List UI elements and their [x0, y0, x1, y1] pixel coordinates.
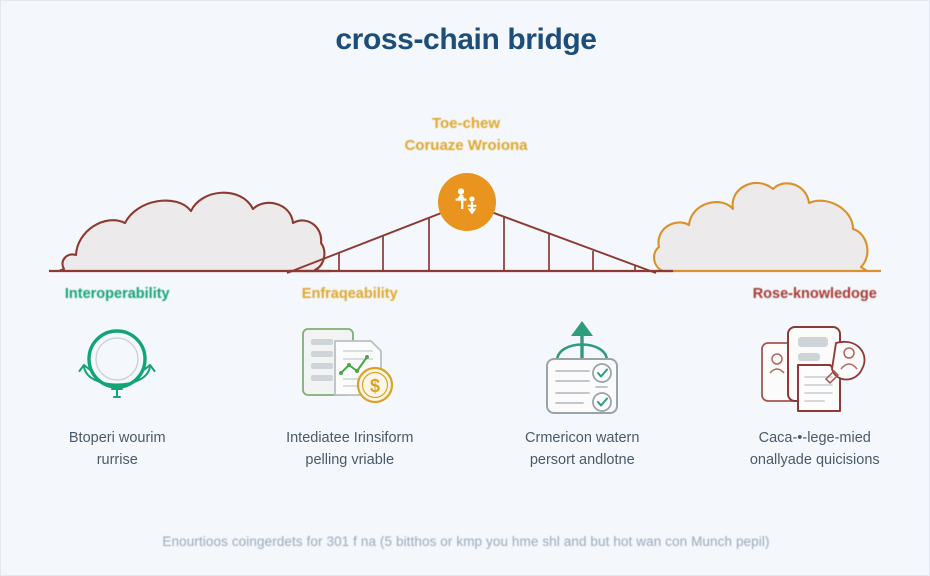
feature-caption-4-line1: Caca-•-lege-mied [759, 430, 871, 446]
sync-circle-icon [58, 321, 176, 413]
upload-document-check-icon [523, 317, 641, 417]
feature-column-rose-knowledoge: Rose-knowledoge [699, 283, 930, 471]
feature-caption-3-line2: persort andlotne [530, 452, 635, 468]
feature-caption-2-line2: pelling vriable [305, 452, 394, 468]
right-landmass-icon [654, 183, 881, 271]
feature-icon-2-wrap: $ [291, 321, 409, 413]
footer-note: Enourtioos coingerdets for 301 f na (5 b… [1, 534, 930, 549]
feature-column-three: Crmericon watern persort andlotne [466, 283, 699, 471]
page-title: cross-chain bridge [1, 23, 930, 57]
feature-columns: Interoperability Btoperi wourim rur [1, 283, 930, 471]
bridge-hangers [339, 217, 635, 271]
bidirectional-transfer-icon [450, 185, 484, 219]
feature-label-2: Enfraqeability [302, 283, 398, 305]
stacked-documents-icon [754, 321, 876, 413]
feature-caption-4: Caca-•-lege-mied onallyade quicisions [750, 427, 880, 471]
feature-caption-1-line1: Btoperi wourim [69, 430, 166, 446]
feature-label-4: Rose-knowledoge [753, 283, 877, 305]
svg-text:$: $ [370, 376, 380, 396]
document-coin-icon: $ [291, 321, 409, 413]
bridge-caption-line1: Toe-chew [432, 115, 500, 132]
feature-caption-2: Intediatee Irinsiform pelling vriable [286, 427, 413, 471]
feature-icon-4-wrap [754, 321, 876, 413]
feature-caption-4-line2: onallyade quicisions [750, 452, 880, 468]
feature-caption-3-line1: Crmericon watern [525, 430, 639, 446]
feature-caption-2-line1: Intediatee Irinsiform [286, 430, 413, 446]
feature-column-interoperability: Interoperability Btoperi wourim rur [1, 283, 234, 471]
left-landmass-icon [49, 193, 331, 271]
feature-column-enfraqeability: Enfraqeability [234, 283, 467, 471]
infographic-canvas: cross-chain bridge Toe-chew Coruaze Wroi… [0, 0, 930, 576]
feature-caption-1-line2: rurrise [97, 452, 138, 468]
feature-label-1: Interoperability [65, 283, 170, 305]
bidirectional-transfer-badge[interactable] [438, 173, 496, 231]
feature-caption-3: Crmericon watern persort andlotne [525, 427, 639, 471]
feature-icon-1-wrap [58, 321, 176, 413]
feature-icon-3-wrap [523, 321, 641, 413]
feature-caption-1: Btoperi wourim rurrise [69, 427, 166, 471]
